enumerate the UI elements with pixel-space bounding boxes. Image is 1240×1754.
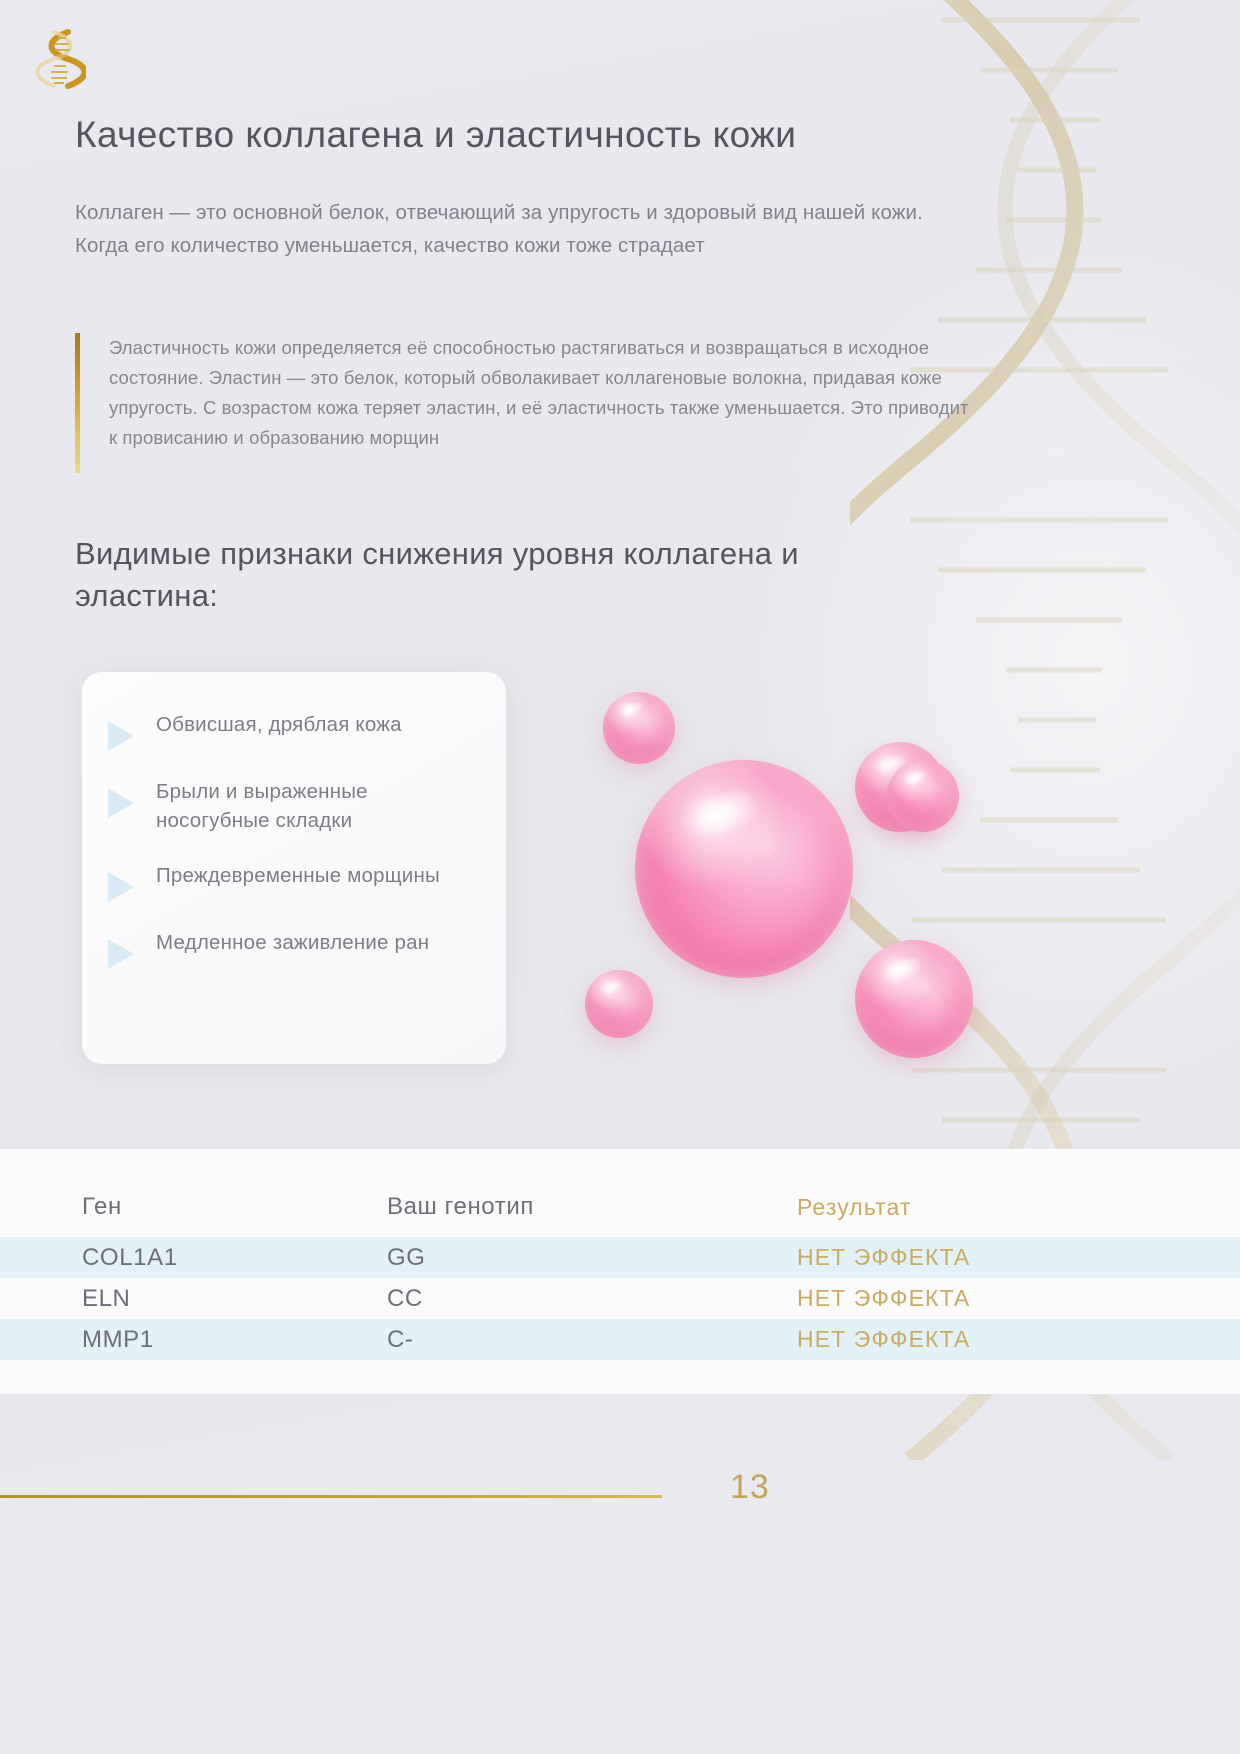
bubble-bottom-right [855,940,973,1058]
column-header-genotype: Ваш генотип [387,1193,797,1221]
table-row: COL1A1 GG НЕТ ЭФФЕКТА [0,1237,1240,1278]
list-item: Преждевременные морщины [108,861,476,902]
bubble-main [635,760,853,978]
cell-gene: COL1A1 [82,1244,387,1272]
signs-heading: Видимые признаки снижения уровня коллаге… [75,533,875,617]
table-row: ELN CC НЕТ ЭФФЕКТА [0,1278,1240,1319]
cell-gene: ELN [82,1285,387,1313]
pink-bubbles-illustration [555,660,1055,1090]
cell-genotype: CC [387,1285,797,1313]
list-item-label: Брыли и выраженные носогубные складки [156,777,476,835]
cell-genotype: GG [387,1244,797,1272]
table-row: MMP1 C- НЕТ ЭФФЕКТА [0,1319,1240,1360]
status-badge: НЕТ ЭФФЕКТА [797,1326,1158,1353]
footer-rule [0,1495,662,1498]
list-item: Обвисшая, дряблая кожа [108,710,476,751]
triangle-right-icon [108,939,134,969]
page-canvas: Качество коллагена и эластичность кожи К… [0,0,1240,1754]
triangle-right-icon [108,872,134,902]
column-header-result: Результат [797,1194,1158,1221]
column-header-gene: Ген [82,1193,387,1221]
callout-accent-bar [75,333,80,473]
signs-card: Обвисшая, дряблая кожа Брыли и выраженны… [82,672,506,1064]
intro-paragraph: Коллаген — это основной белок, отвечающи… [75,196,975,262]
callout-block: Эластичность кожи определяется её способ… [75,333,975,454]
cell-genotype: C- [387,1326,797,1354]
cell-gene: MMP1 [82,1326,387,1354]
dna-helix-icon [34,26,86,92]
list-item-label: Обвисшая, дряблая кожа [156,710,402,739]
list-item: Брыли и выраженные носогубные складки [108,777,476,835]
bubble-top-right-inner [887,760,959,832]
callout-text: Эластичность кожи определяется её способ… [109,333,975,454]
status-badge: НЕТ ЭФФЕКТА [797,1244,1158,1271]
status-badge: НЕТ ЭФФЕКТА [797,1285,1158,1312]
list-item-label: Преждевременные морщины [156,861,440,890]
triangle-right-icon [108,721,134,751]
list-item-label: Медленное заживление ран [156,928,429,957]
results-table: Ген Ваш генотип Результат COL1A1 GG НЕТ … [0,1149,1240,1394]
page-number: 13 [730,1468,770,1507]
triangle-right-icon [108,788,134,818]
page-title: Качество коллагена и эластичность кожи [75,112,975,158]
bubble-small-top-left [603,692,675,764]
bubble-bottom-left [585,970,653,1038]
list-item: Медленное заживление ран [108,928,476,969]
table-header-row: Ген Ваш генотип Результат [0,1173,1240,1237]
bubble-top-right [855,742,945,832]
